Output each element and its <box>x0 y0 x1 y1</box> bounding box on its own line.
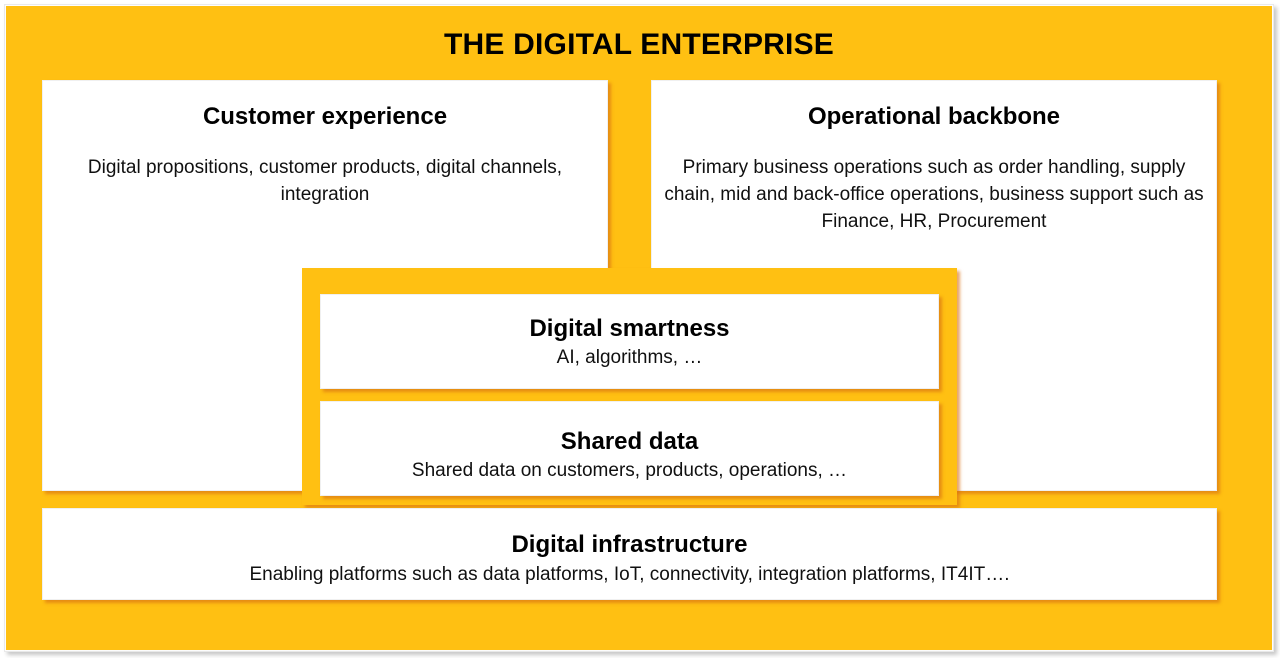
card-digital-smartness-body: AI, algorithms, … <box>321 345 938 372</box>
card-digital-smartness-title: Digital smartness <box>321 315 938 343</box>
card-customer-experience-title: Customer experience <box>43 103 607 131</box>
card-shared-data-title: Shared data <box>321 428 938 456</box>
card-operational-backbone-title: Operational backbone <box>652 103 1216 131</box>
page-title: THE DIGITAL ENTERPRISE <box>6 28 1272 62</box>
card-shared-data[interactable]: Shared data Shared data on customers, pr… <box>320 401 939 496</box>
card-digital-infrastructure-title: Digital infrastructure <box>43 531 1216 559</box>
card-customer-experience-body: Digital propositions, customer products,… <box>43 155 607 209</box>
card-digital-infrastructure[interactable]: Digital infrastructure Enabling platform… <box>42 508 1217 600</box>
card-operational-backbone-body: Primary business operations such as orde… <box>652 155 1216 236</box>
diagram-canvas: THE DIGITAL ENTERPRISE Customer experien… <box>0 0 1280 658</box>
card-digital-smartness[interactable]: Digital smartness AI, algorithms, … <box>320 294 939 389</box>
card-digital-infrastructure-body: Enabling platforms such as data platform… <box>43 562 1216 589</box>
card-shared-data-body: Shared data on customers, products, oper… <box>321 458 938 485</box>
